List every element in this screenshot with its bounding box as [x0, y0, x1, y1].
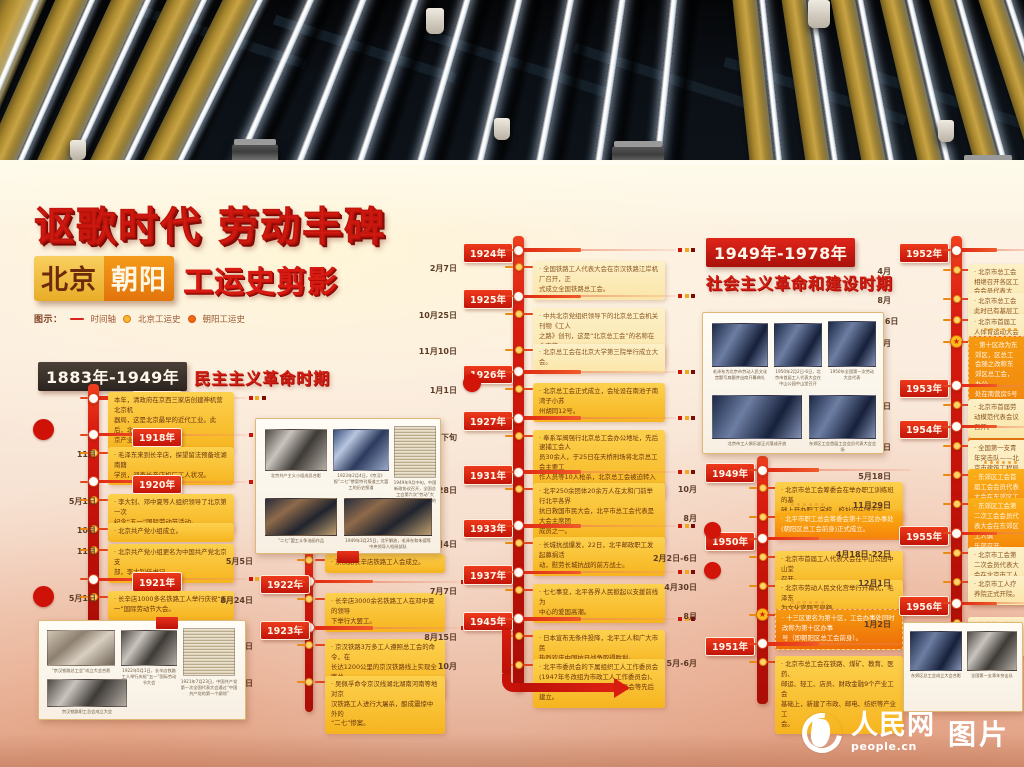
timeline-connector-faint: [819, 538, 911, 540]
timeline-connector: [523, 524, 581, 528]
timeline-connector: [523, 571, 581, 575]
timeline-label-leader: [297, 559, 305, 561]
timeline-event-text-line: 下举行大罢工。: [331, 617, 439, 627]
watermark-label: 图片: [948, 713, 1010, 753]
timeline-event-node: [953, 442, 961, 450]
timeline-event-text-line: 汉铁路工人进行大屠杀，酿成震惊中外的: [331, 700, 439, 720]
timeline-label-leader: [749, 469, 757, 471]
timeline-year-label: 1921年: [132, 572, 182, 592]
photo-caption: 全国第一支青年突击队: [967, 673, 1017, 679]
timeline-date-label: 1月2日: [833, 619, 891, 630]
timeline-label-leader: [80, 549, 88, 551]
timeline-end-dots: [678, 470, 695, 474]
timeline-label-leader: [943, 552, 951, 554]
timeline-event-node: [515, 432, 523, 440]
timeline-event-node: [953, 500, 961, 508]
photo-caption: 北京市工人俱乐部正式落成开放: [712, 441, 802, 447]
timeline-connector-faint: [373, 627, 459, 629]
timeline-date-label: 4月: [833, 266, 891, 277]
timeline-event-node: [305, 556, 313, 564]
timeline-event-text-line: 一”国际劳动节大会。: [114, 605, 228, 615]
timeline-event-node: [515, 310, 523, 318]
photo-panel-mid-right: 毛泽东为北京市劳动人民文化宫题写扁额并出席开幕典礼 1950年2月2日-6日，北…: [702, 312, 884, 454]
chaoyang-marker-5: [704, 562, 721, 579]
main-title: 讴歌时代劳动丰碑: [34, 206, 386, 248]
timeline-label-leader: [749, 585, 757, 587]
timeline-date-label: 10月: [399, 661, 457, 672]
timeline-label-leader: [505, 471, 513, 473]
photo: [394, 426, 436, 478]
timeline-event-text-line: · 京汉铁路3万多工人遵照总工会的命令，在: [331, 643, 439, 663]
timeline-connector: [315, 559, 325, 561]
timeline-event-card: · 吴佩孚命令京汉线湖北湖南河南等地对京汉铁路工人进行大屠杀，酿成震惊中外的“二…: [325, 676, 445, 735]
timeline-event-text-line: · 第十区改为东郊区，区总工会随之改称东郊区总工会，办公: [975, 341, 1019, 391]
location-plaque: 北京 朝阳: [34, 256, 174, 301]
photo-caption: 毛泽东为北京市劳动人民文化宫题写扁额并出席开幕典礼: [712, 369, 768, 381]
photo: [265, 429, 327, 471]
timeline-connector: [523, 370, 581, 374]
timeline-year-label: 1955年: [899, 526, 949, 546]
pendant-light-icon: [426, 8, 444, 34]
timeline-label-leader: [505, 349, 513, 351]
timeline-label-leader: [943, 581, 951, 583]
timeline-year-label: 1923年: [260, 621, 310, 641]
timeline-connector: [523, 349, 533, 351]
timeline-label-leader: [297, 581, 305, 583]
timeline-date-label: 4月18日-22日: [833, 549, 891, 560]
timeline-year-label: 1922年: [260, 575, 310, 595]
timeline-event-text-line: 建立。: [539, 693, 659, 703]
timeline-event-text-line: “二七”惨案。: [331, 719, 439, 729]
timeline-date-label: 8月15日: [399, 632, 457, 643]
timeline-event-node: [953, 471, 961, 479]
timeline-label-leader: [80, 499, 88, 501]
timeline-year-label: 1927年: [463, 411, 513, 431]
timeline-label-leader: [749, 614, 757, 616]
pendant-light-icon: [494, 118, 510, 140]
photo: [265, 498, 337, 536]
timeline-event-text-line: · 长辛店3000余名铁路工人在邓中夏的领导: [331, 597, 439, 617]
timeline-year-label: 1933年: [463, 519, 513, 539]
watermark: 人民网 people.cn 图片: [802, 712, 1010, 753]
timeline-event-text-line: · 北京市总工会在铁路、煤矿、教育、医药、: [781, 660, 897, 680]
timeline-connector: [98, 499, 108, 501]
section-1-date: 1883年-1949年: [38, 362, 187, 391]
timeline-year-label: 1925年: [463, 289, 513, 309]
timeline-connector-faint: [581, 471, 676, 473]
section-header-1: 1883年-1949年 民主主义革命时期: [38, 362, 330, 391]
photo-panel-left-lower: “京汉铁路总工会”成立大会合影 1922年5月1日，长辛店铁路工人举行庆祝“五一…: [38, 620, 246, 720]
timeline-date-label: 7月7日: [399, 586, 457, 597]
pendant-light-icon: [70, 140, 86, 160]
photo: [910, 631, 962, 671]
legend-item-0-label: 时间轴: [91, 313, 117, 325]
subtitle-row: 北京 朝阳 工运史剪影: [34, 256, 386, 301]
timeline-connector: [961, 602, 997, 606]
photo: [344, 498, 432, 536]
timeline-connector-faint: [581, 417, 676, 419]
timeline-label-leader: [505, 525, 513, 527]
timeline-connector: [523, 416, 581, 420]
timeline-event-node: [759, 484, 767, 492]
timeline-connector: [315, 644, 325, 646]
timeline-date-label: 1月1日: [399, 385, 457, 396]
timeline-card-separator: [984, 328, 1017, 331]
timeline-label-leader: [505, 249, 513, 251]
timeline-date-label: 8月24日: [195, 595, 253, 606]
photo-caption: 1921年7月23日，中国共产党第一次全国代表大会通过“中国共产党的第一个纲领”: [179, 679, 239, 697]
timeline-event-text-line: · 李大钊、邓中夏等人组织领导了北京第一次: [114, 498, 228, 518]
timeline-label-leader: [943, 474, 951, 476]
timeline-event-text-line: · 奉系军阀强行北京总工会办公地址，先后逮捕工会人: [539, 434, 659, 454]
timeline-end-dots: [678, 524, 695, 528]
timeline-connector: [961, 248, 997, 252]
photo-caption: 京汉铁路职工总会成立大会: [47, 709, 127, 715]
timeline-label-leader: [505, 589, 513, 591]
hollow-dot-icon: [123, 315, 131, 323]
timeline-year-label: 1954年: [899, 420, 949, 440]
photo: [712, 323, 768, 367]
photo-caption: “二七”罢工斗争油画作品: [265, 538, 337, 544]
timeline-date-label: 11月10日: [399, 346, 457, 357]
timeline-label-leader: [943, 532, 951, 534]
timeline-date-label: 5月1日: [38, 496, 96, 507]
timeline-event-node: [953, 316, 961, 324]
timeline-card-separator: [791, 601, 824, 604]
timeline-label-leader: [943, 269, 951, 271]
timeline-event-text-line: · 北平市职工总会筹委会第十三区办事处(朝阳区总工会前身)正式成立。: [781, 515, 897, 535]
timeline-date-label: 8月: [833, 295, 891, 306]
timeline-flow-arrow: [502, 630, 632, 692]
timeline-connector: [523, 295, 581, 299]
timeline-event-card: · 北京市工人疗养院正式开院。: [968, 576, 1024, 605]
timeline-date-label: 8月: [639, 611, 697, 622]
photo: [47, 630, 115, 666]
timeline-date-label: 4月30日: [639, 582, 697, 593]
timeline-label-leader: [749, 516, 757, 518]
timeline-connector: [523, 248, 581, 252]
chaoyang-marker-2: [33, 586, 54, 607]
timeline-event-node: [953, 578, 961, 586]
timeline-date-label: 11月: [38, 546, 96, 557]
timeline-year-label: 1953年: [899, 379, 949, 399]
plaque-beijing: 北京: [34, 256, 104, 301]
timeline-line-icon: [70, 318, 84, 321]
timeline-event-text-line: · 吴佩孚命令京汉线湖北湖南河南等地对京: [331, 680, 439, 700]
photo-caption: 1950年2月2日-6日，北京市首届工人代表大会在中山公园中山堂召开: [774, 369, 822, 387]
photo-panel-far-right: 东郊区总工会成立大会合影 全国第一支青年突击队: [903, 622, 1023, 712]
timeline-label-leader: [297, 644, 305, 646]
exhibition-title-block: 讴歌时代劳动丰碑 北京 朝阳 工运史剪影 图示： 时间轴 北京工运史 朝阳工运史: [34, 206, 386, 325]
timeline-label-leader: [505, 371, 513, 373]
watermark-en: people.cn: [851, 740, 935, 753]
section-2-date: 1949年-1978年: [706, 238, 855, 267]
pendant-light-icon: [808, 0, 830, 28]
timeline-label-leader: [80, 578, 88, 580]
photo-caption: 1950年全国第一次劳动大会代表: [828, 369, 876, 381]
timeline-date-label: 5月5日: [195, 556, 253, 567]
timeline-date-label: 11月: [38, 449, 96, 460]
photo: [333, 429, 389, 471]
timeline-connector-faint: [581, 249, 676, 251]
timeline-label-leader: [943, 319, 951, 321]
timeline-event-card: · 北平市职工总会筹委会第十三区办事处(朝阳区总工会前身)正式成立。: [775, 511, 903, 540]
timeline-label-leader: [943, 426, 951, 428]
timeline-connector-faint: [997, 532, 1024, 534]
timeline-connector-faint: [819, 643, 911, 645]
photo: [774, 323, 822, 367]
timeline-event-node: [515, 263, 523, 271]
timeline-event-text-line: 州胡同12号。: [539, 407, 659, 417]
timeline-label-leader: [749, 538, 757, 540]
timeline-year-label: 1937年: [463, 565, 513, 585]
photo: [809, 395, 876, 439]
photo-caption: 1949年3月25日，北平解放，毛泽东和朱德等中央领导人检阅部队: [344, 538, 432, 550]
timeline-label-leader: [505, 313, 513, 315]
legend: 图示： 时间轴 北京工运史 朝阳工运史: [34, 312, 386, 325]
timeline-label-leader: [505, 618, 513, 620]
timeline-event-card: · 北京共产党小组成立。: [108, 523, 234, 542]
timeline-label-leader: [943, 298, 951, 300]
timeline-event-text-line: 本年，清政府在京西三家店创建神机营北京机: [114, 396, 228, 416]
timeline-end-dots: [678, 370, 695, 374]
timeline-year-label: 1952年: [899, 243, 949, 263]
timeline-label-leader: [943, 385, 951, 387]
timeline-event-node: [305, 678, 313, 686]
timeline-year-label: 1956年: [899, 596, 949, 616]
timeline-connector: [315, 580, 373, 584]
timeline-card-separator: [984, 461, 1017, 464]
timeline-year-label: 1949年: [705, 463, 755, 483]
timeline-event-text-line: · 中共北京党组织领导下的北京总工会机关刊物《工人: [539, 312, 659, 332]
timeline-date-label: 12月1日: [833, 578, 891, 589]
timeline-event-text-line: · 全国铁路工人代表大会在京汉铁路江岸机厂召开，正: [539, 265, 659, 285]
timeline-end-dots: [678, 248, 695, 252]
timeline-year-label: 1931年: [463, 465, 513, 485]
timeline-label-leader: [505, 435, 513, 437]
timeline-connector: [315, 681, 325, 683]
timeline-event-card: · 北京市首届劳动模范代表会议召开。: [968, 399, 1024, 438]
timeline-label-leader: [505, 388, 513, 390]
watermark-text: 人民网 people.cn: [851, 712, 935, 753]
subtitle-text: 工运史剪影: [183, 257, 338, 301]
timeline-event-node: [953, 266, 961, 274]
timeline-connector: [961, 384, 997, 388]
legend-item-1-label: 北京工运史: [138, 313, 181, 325]
timeline-event-node: [305, 595, 313, 603]
timeline-date-label: 2月7日: [399, 263, 457, 274]
people-cn-logo-icon: [802, 713, 842, 753]
timeline-connector-faint: [997, 249, 1024, 251]
photo: [828, 321, 876, 367]
timeline-end-dots: [249, 396, 266, 400]
timeline-event-text-line: · 北京市工人疗养院正式开院。: [974, 580, 1020, 600]
timeline-connector-faint: [581, 525, 676, 527]
photo: [47, 679, 127, 707]
timeline-connector: [98, 549, 108, 551]
timeline-end-dots: [678, 570, 695, 574]
timeline-label-leader: [749, 487, 757, 489]
timeline-year-label: 1945年: [463, 612, 513, 632]
timeline-end-dots: [678, 294, 695, 298]
timeline-label-leader: [80, 481, 88, 483]
timeline-connector-faint: [997, 426, 1024, 428]
timeline-event-text-line: · 北京共产党小组成立。: [114, 527, 228, 537]
timeline-connector: [98, 528, 108, 530]
timeline-event-node: [515, 346, 523, 354]
timeline-year-label: 1951年: [705, 637, 755, 657]
timeline-connector: [767, 537, 819, 541]
timeline-connector: [315, 598, 325, 600]
timeline-event-node: [759, 513, 767, 521]
photo-caption: “京汉铁路总工会”成立大会合影: [47, 668, 115, 674]
timeline-date-label: 5月18日: [833, 471, 891, 482]
photo-caption: 东郊区工会首届工会会员代表大会会场: [809, 441, 876, 453]
timeline-event-node: [953, 295, 961, 303]
timeline-connector-faint: [373, 581, 459, 583]
timeline-event-text-line: 成员之一。: [539, 527, 659, 537]
timeline-label-leader: [749, 661, 757, 663]
photo-caption: 北京共产主义小组成员合影: [265, 473, 327, 479]
timeline-connector: [767, 642, 819, 646]
photo-panel-left-upper: 北京共产主义小组成员合影 1923年2月4日，《京汉》报“二七”惨案特刊报道三大…: [255, 418, 441, 554]
photo: [121, 630, 177, 666]
timeline-card-separator: [791, 503, 824, 506]
timeline-event-node: [953, 401, 961, 409]
timeline-date-label: 10月: [639, 484, 697, 495]
chaoyang-marker-4: [704, 522, 721, 539]
photo-caption: 1923年2月4日，《京汉》报“二七”惨案特刊报道三大罢工的历史报道: [333, 473, 389, 491]
photo-caption: 东郊区总工会成立大会合影: [910, 673, 962, 679]
exhibition-scene: 讴歌时代劳动丰碑 北京 朝阳 工运史剪影 图示： 时间轴 北京工运史 朝阳工运史…: [0, 0, 1024, 767]
timeline-connector-faint: [581, 371, 676, 373]
timeline-event-text-line: · 北京总工会正式成立，会址设在南池子南湾子小苏: [539, 387, 659, 407]
timeline-year-label: 1920年: [132, 475, 182, 495]
timeline-date-label: 10月: [38, 525, 96, 536]
timeline-year-label: 1924年: [463, 243, 513, 263]
timeline-date-label: 10月25日: [399, 310, 457, 321]
chaoyang-marker-1: [33, 419, 54, 440]
timeline-label-leader: [80, 452, 88, 454]
timeline-event-text-line: 式成立全国铁路总工会。: [539, 285, 659, 295]
section-1-name: 民主主义革命时期: [194, 365, 330, 389]
timeline-connector: [961, 425, 997, 429]
filled-dot-icon: [188, 315, 196, 323]
timeline-label-leader: [943, 503, 951, 505]
timeline-event-node: [515, 586, 523, 594]
timeline-event-node: [759, 582, 767, 590]
timeline-connector: [523, 388, 533, 390]
timeline-date-label: 5月-6月: [639, 658, 697, 669]
timeline-connector: [523, 435, 533, 437]
timeline-event-node: [953, 549, 961, 557]
timeline-connector: [961, 532, 997, 536]
legend-label: 图示：: [34, 312, 63, 325]
timeline-card-separator: [984, 490, 1017, 493]
panel-accent-tab: [156, 617, 178, 629]
timeline-event-text-line: 邮运、轻工、店员、财政金融9个产业工会: [781, 680, 897, 700]
timeline-event-node: [515, 539, 523, 547]
timeline-event-node: [515, 485, 523, 493]
timeline-label-leader: [297, 598, 305, 600]
photo: [967, 631, 1017, 671]
timeline-label-leader: [943, 341, 951, 343]
timeline-spine: [757, 456, 768, 704]
pendant-light-icon: [938, 120, 954, 142]
timeline-connector: [523, 470, 581, 474]
chaoyang-marker-3: [463, 374, 481, 392]
photo: [183, 628, 235, 676]
timeline-event-node: [759, 553, 767, 561]
timeline-label-leader: [80, 397, 88, 399]
photo: [712, 395, 802, 439]
timeline-event-node: [759, 658, 767, 666]
timeline-label-leader: [943, 445, 951, 447]
timeline-date-label: 8月: [639, 513, 697, 524]
timeline-event-text-line: · 东郊区工会第二次工会会员代表大会在东郊区工人俱: [974, 502, 1020, 542]
timeline-connector: [523, 617, 581, 621]
timeline-date-label: 11月29日: [833, 500, 891, 511]
timeline-end-dots: [678, 416, 695, 420]
timeline-connector: [98, 452, 108, 454]
timeline-connector: [315, 626, 373, 630]
main-title-part1: 讴歌时代: [34, 204, 202, 250]
timeline-connector-faint: [997, 385, 1024, 387]
timeline-event-card: · 北京总工会在北京大学第三院举行成立大会。: [533, 344, 665, 373]
main-title-part2: 劳动丰碑: [218, 204, 386, 250]
timeline-label-leader: [749, 556, 757, 558]
timeline-label-leader: [80, 434, 88, 436]
timeline-event-text-line: · 北京市首届劳动模范代表会议召开。: [974, 403, 1020, 433]
timeline-connector: [767, 468, 819, 472]
timeline-event-text-line: · 北京总工会在北京大学第三院举行成立大会。: [539, 348, 659, 368]
timeline-connector: [523, 313, 533, 315]
panel-accent-tab: [337, 551, 359, 563]
timeline-connector: [523, 589, 533, 591]
photo-caption: 1922年5月1日，长辛店铁路工人举行庆祝“五一”国际劳动节大会: [121, 668, 177, 686]
timeline-event-text-line: · 毛泽东来到长辛店，探望留法预备班湖南籍: [114, 451, 228, 471]
timeline-year-label: 1918年: [132, 428, 182, 448]
watermark-cn: 人民网: [851, 712, 935, 739]
timeline-label-leader: [297, 681, 305, 683]
legend-item-2-label: 朝阳工运史: [203, 313, 246, 325]
timeline-event-node: [515, 385, 523, 393]
timeline-date-label: 2月2日-6日: [639, 553, 697, 564]
timeline-label-leader: [297, 627, 305, 629]
timeline-label-leader: [80, 528, 88, 530]
plaque-chaoyang: 朝阳: [104, 256, 174, 301]
timeline-label-leader: [749, 643, 757, 645]
timeline-label-leader: [943, 249, 951, 251]
timeline-label-leader: [943, 404, 951, 406]
timeline-label-leader: [505, 417, 513, 419]
